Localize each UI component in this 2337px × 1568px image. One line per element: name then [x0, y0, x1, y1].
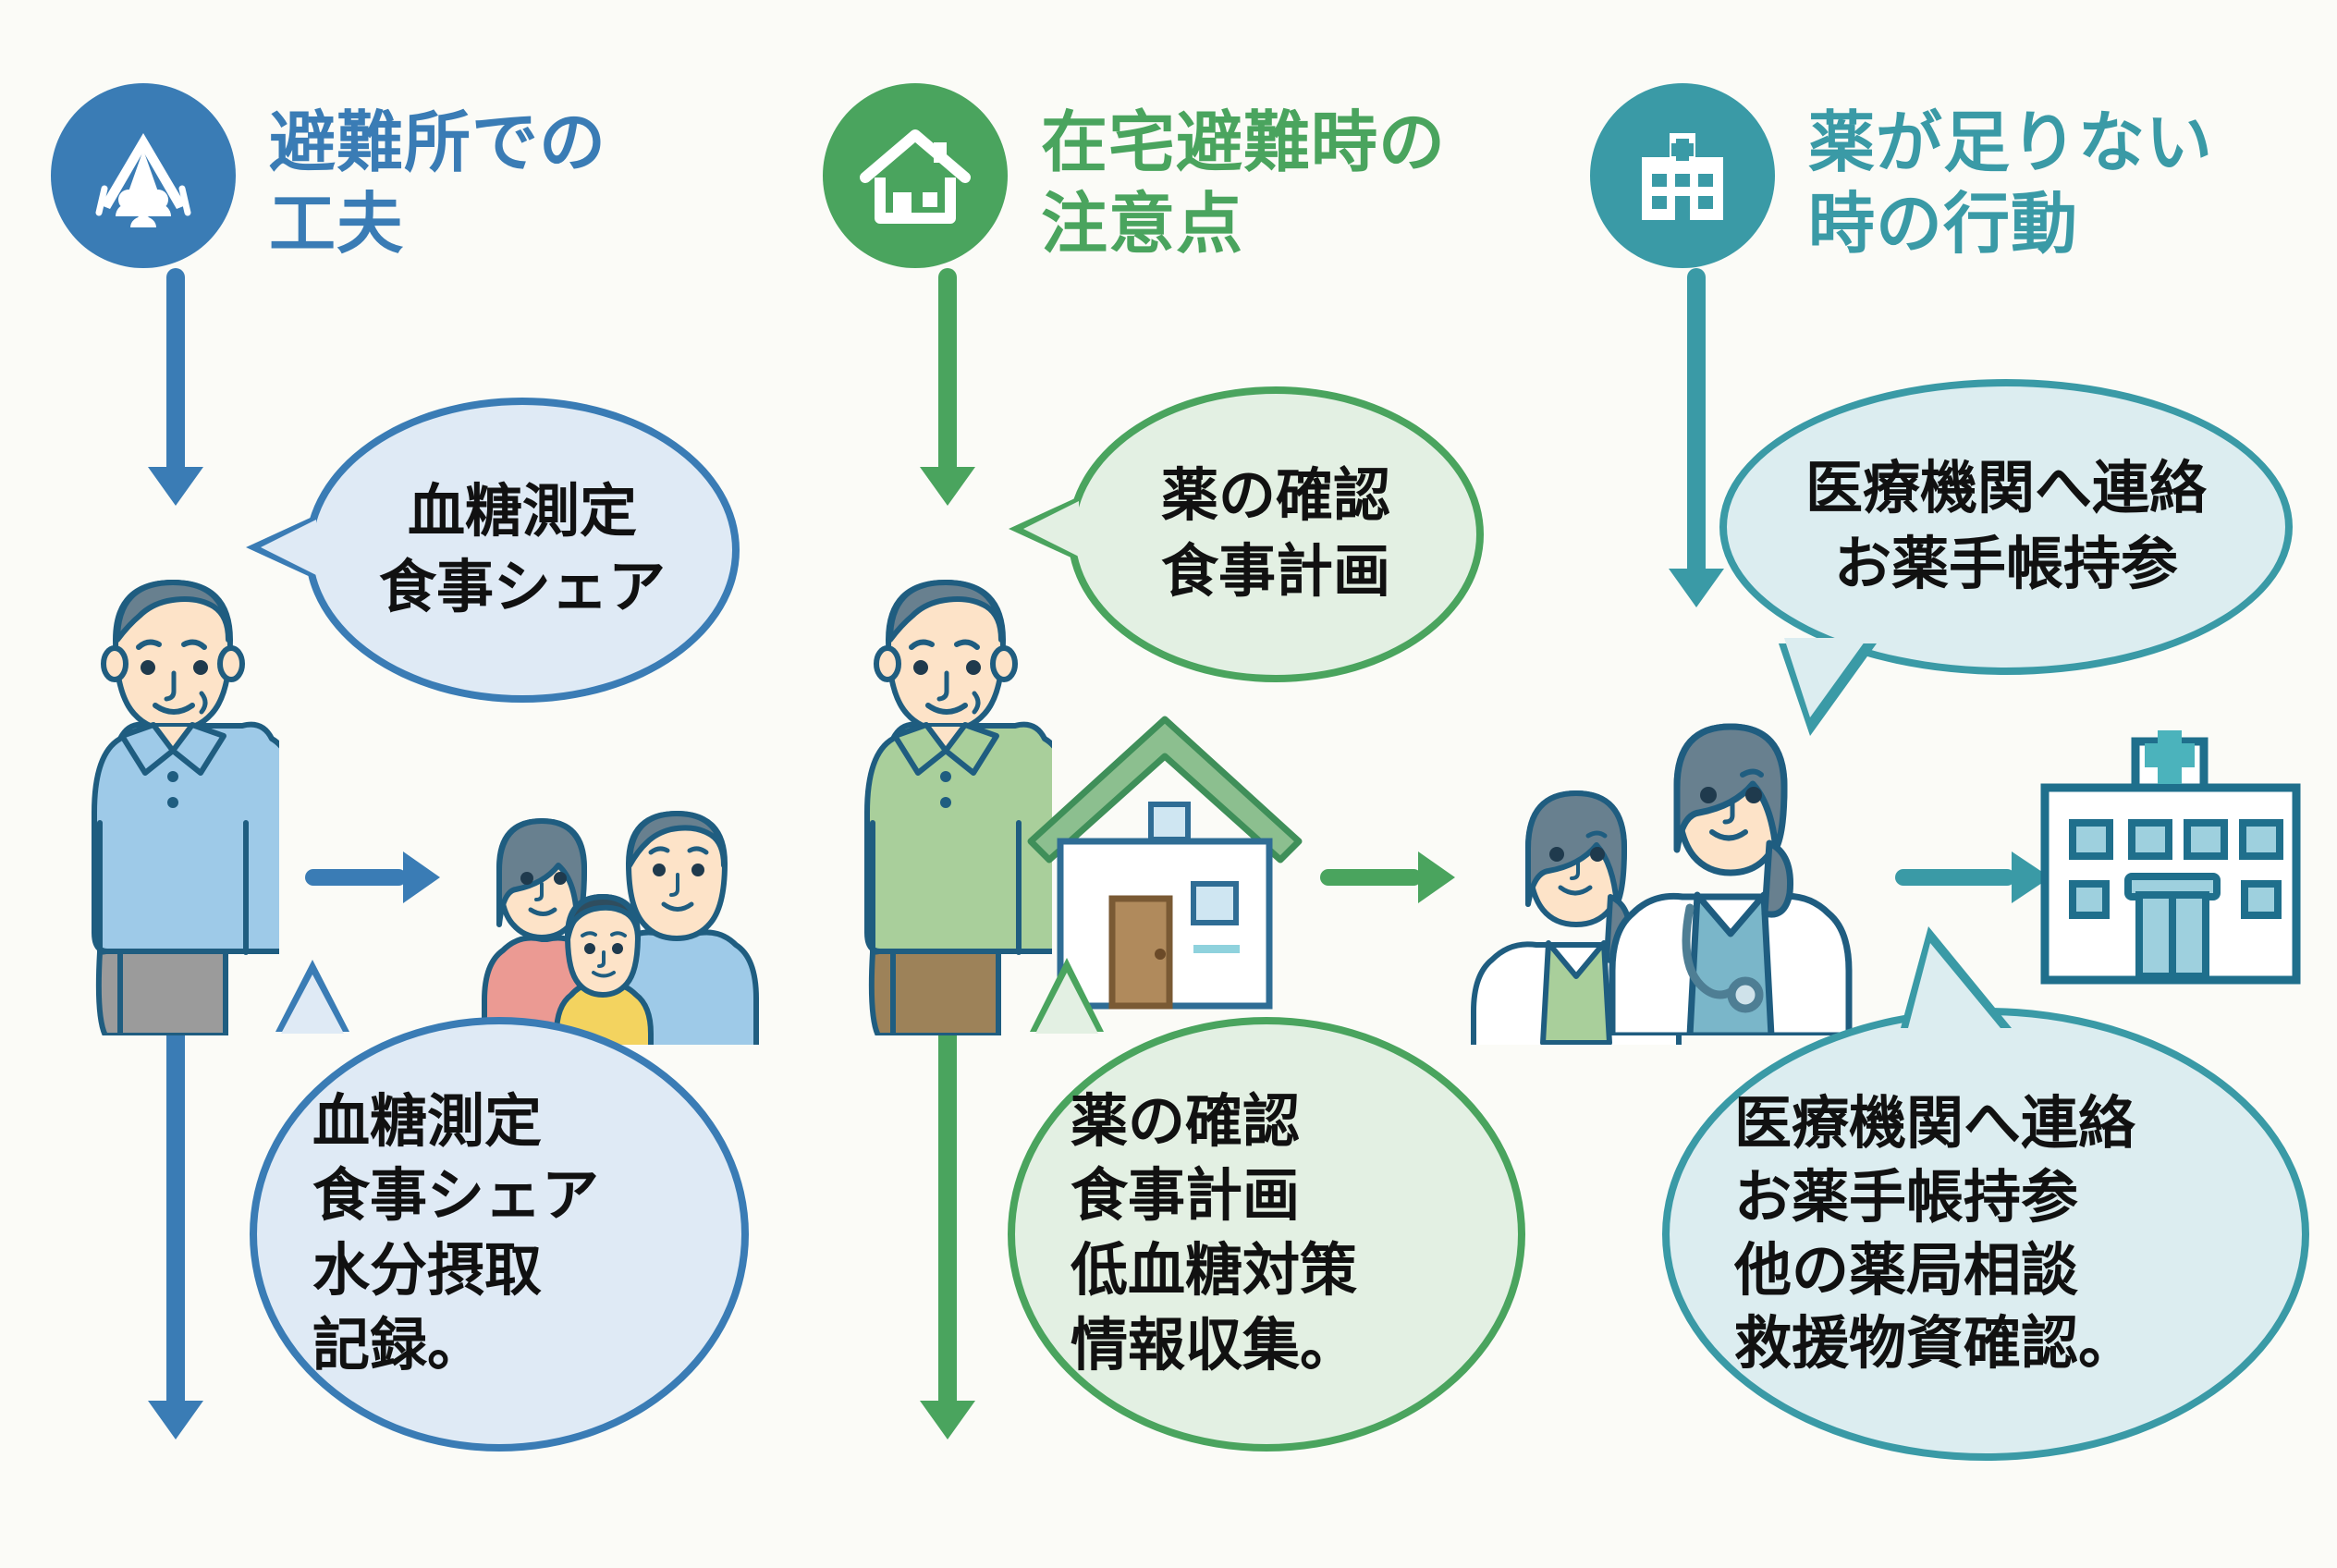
bubble-line: 食事シェア [312, 1159, 599, 1234]
arrow-shaft-medicine-top [1687, 268, 1706, 582]
infographic-canvas: 避難所での 工夫 [0, 0, 2337, 1568]
bubble-line: 他の薬局相談 [1734, 1234, 2078, 1307]
house-icon [823, 83, 1008, 268]
arrow-shaft-home-bottom [938, 1008, 957, 1415]
speech-bubble-shelter-bottom: 血糖測定 食事シェア 水分摂取 記録。 [250, 1017, 749, 1452]
bubble-line: 水分摂取 [312, 1234, 542, 1309]
bubble-line: 医療機関へ連絡 [1805, 451, 2207, 527]
bubble-tail-inner [261, 520, 316, 575]
speech-bubble-home-top: 薬の確認 食事計画 [1068, 386, 1484, 682]
bubble-line: 血糖測定 [312, 1085, 542, 1160]
family-group-figure [462, 777, 767, 1045]
arrow-head-shelter-bottom [148, 1401, 203, 1439]
bubble-line: 食事計画 [1161, 534, 1390, 610]
arrow-head-shelter-to-family [403, 851, 440, 903]
bubble-tail-inner [1023, 501, 1079, 557]
header-title-home: 在宅避難時の 注意点 [1041, 83, 1446, 266]
header-medicine: 薬が足りない 時の行動 [1590, 83, 2213, 268]
bubble-line: お薬手帳持参 [1734, 1161, 2078, 1234]
female-doctor-figure [1601, 703, 1860, 1035]
arrow-shaft-medicine-to-hospital [1895, 869, 2015, 886]
bubble-line: 低血糖対策 [1071, 1234, 1357, 1309]
bubble-tail-inner [1035, 973, 1098, 1034]
speech-bubble-home-bottom: 薬の確認 食事計画 低血糖対策 情報収集。 [1008, 1017, 1525, 1452]
speech-bubble-medicine-top: 医療機関へ連絡 お薬手帳持参 [1719, 379, 2293, 675]
bubble-line: 記録。 [312, 1309, 484, 1384]
elderly-man-figure [67, 555, 279, 1035]
arrow-head-shelter-top [148, 467, 203, 506]
bubble-line: 情報収集。 [1071, 1309, 1357, 1384]
arrow-head-home-to-doctor [1418, 851, 1455, 903]
bubble-line: お薬手帳持参 [1834, 527, 2178, 603]
bubble-line: 血糖測定 [408, 474, 637, 550]
bubble-line: 救援物資確認。 [1734, 1307, 2135, 1380]
bubble-line: 薬の確認 [1071, 1085, 1300, 1160]
bubble-tail-inner [1908, 943, 2001, 1028]
hospital-icon [1590, 83, 1775, 268]
bubble-tail-inner [1784, 638, 1867, 717]
arrow-shaft-shelter-top [166, 268, 185, 481]
hospital-building-illustration [2023, 730, 2319, 1008]
arrow-shaft-home-top [938, 268, 957, 481]
arrow-head-home-bottom [920, 1401, 975, 1439]
arrow-shaft-home-to-doctor [1320, 869, 1422, 886]
header-title-shelter: 避難所での 工夫 [269, 83, 606, 266]
column-home: 在宅避難時の 注意点 [795, 0, 1553, 1568]
speech-bubble-shelter-top: 血糖測定 食事シェア [305, 398, 740, 703]
bubble-line: 薬の確認 [1161, 459, 1390, 534]
arrow-shaft-shelter-to-family [305, 869, 407, 886]
header-shelter: 避難所での 工夫 [51, 83, 606, 268]
arrow-head-home-top [920, 467, 975, 506]
header-home: 在宅避難時の 注意点 [823, 83, 1446, 268]
speech-bubble-medicine-bottom: 医療機関へ連絡 お薬手帳持参 他の薬局相談 救援物資確認。 [1662, 1008, 2309, 1461]
bubble-line: 食事シェア [379, 550, 666, 626]
column-medicine: 薬が足りない 時の行動 [1553, 0, 2337, 1568]
column-shelter: 避難所での 工夫 [0, 0, 795, 1568]
bubble-line: 食事計画 [1071, 1159, 1300, 1234]
arrow-head-medicine-top [1669, 569, 1724, 607]
tent-icon [51, 83, 236, 268]
bubble-tail-inner [281, 974, 344, 1034]
header-title-medicine: 薬が足りない 時の行動 [1808, 83, 2213, 266]
arrow-shaft-shelter-bottom [166, 1008, 185, 1415]
bubble-line: 医療機関へ連絡 [1734, 1087, 2135, 1160]
